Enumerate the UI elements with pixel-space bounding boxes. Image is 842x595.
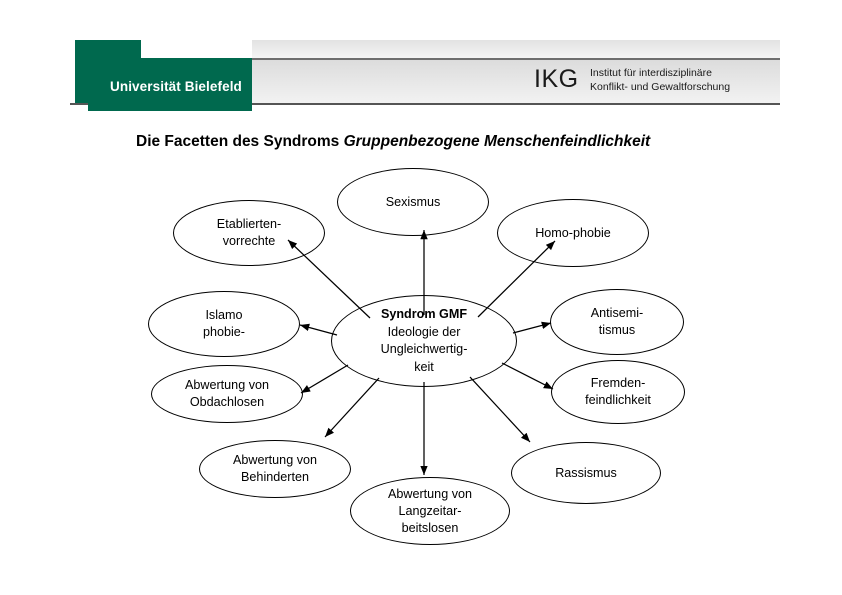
- node-abwertung-langzeitarbeitslose[interactable]: Abwertung von Langzeitar- beitslosen: [350, 477, 510, 545]
- node-rassismus-label: Rassismus: [555, 465, 617, 482]
- institute-name-line1: Institut für interdisziplinäre: [590, 66, 730, 80]
- institute-name-line2: Konflikt- und Gewaltforschung: [590, 80, 730, 94]
- node-antisemitismus[interactable]: Antisemi- tismus: [550, 289, 684, 355]
- node-rassismus[interactable]: Rassismus: [511, 442, 661, 504]
- node-islamophobie[interactable]: Islamo phobie-: [148, 291, 300, 357]
- node-abwertung-obdachlose-label: Abwertung von Obdachlosen: [185, 377, 269, 411]
- node-homophobie[interactable]: Homo-phobie: [497, 199, 649, 267]
- node-abwertung-langzeitarbeitslose-label: Abwertung von Langzeitar- beitslosen: [388, 486, 472, 537]
- node-homophobie-label: Homo-phobie: [535, 225, 611, 242]
- edge-to-fremdenfeindlichkeit: [502, 363, 553, 389]
- logo-block-foot: [88, 103, 252, 111]
- edge-to-antisemitismus: [513, 323, 551, 333]
- node-abwertung-behinderte[interactable]: Abwertung von Behinderten: [199, 440, 351, 498]
- node-abwertung-obdachlose[interactable]: Abwertung von Obdachlosen: [151, 365, 303, 423]
- node-center-heading: Syndrom GMF: [381, 306, 468, 324]
- page-title-plain: Die Facetten des Syndroms: [136, 133, 344, 150]
- node-etablierten-vorrechte[interactable]: Etablierten- vorrechte: [173, 200, 325, 266]
- logo-block-upper: [75, 40, 141, 59]
- node-center-body: Ideologie der Ungleichwertig- keit: [381, 325, 468, 374]
- node-sexismus[interactable]: Sexismus: [337, 168, 489, 236]
- node-abwertung-behinderte-label: Abwertung von Behinderten: [233, 452, 317, 486]
- ikg-abbreviation: IKG: [534, 65, 579, 94]
- university-wordmark: Universität Bielefeld: [110, 79, 242, 94]
- node-center-syndrom-gmf[interactable]: Syndrom GMF Ideologie der Ungleichwertig…: [331, 295, 517, 387]
- node-antisemitismus-label: Antisemi- tismus: [591, 305, 643, 339]
- header-gray-top-band: [252, 40, 780, 58]
- node-center-text: Syndrom GMF Ideologie der Ungleichwertig…: [381, 306, 468, 376]
- gmf-syndrome-diagram: Syndrom GMF Ideologie der Ungleichwertig…: [0, 150, 842, 580]
- page-title-italic: Gruppenbezogene Menschenfeindlichkeit: [344, 133, 651, 150]
- node-sexismus-label: Sexismus: [386, 194, 441, 211]
- page-header: Universität Bielefeld IKG Institut für i…: [0, 0, 842, 125]
- node-fremdenfeindlichkeit[interactable]: Fremden- feindlichkeit: [551, 360, 685, 424]
- page-title: Die Facetten des Syndroms Gruppenbezogen…: [136, 133, 650, 151]
- edge-to-obdachlose: [301, 365, 348, 393]
- node-etablierten-vorrechte-label: Etablierten- vorrechte: [217, 216, 281, 250]
- node-islamophobie-label: Islamo phobie-: [203, 307, 245, 341]
- edge-to-rassismus: [470, 377, 530, 442]
- institute-name: Institut für interdisziplinäreKonflikt- …: [590, 66, 730, 94]
- node-fremdenfeindlichkeit-label: Fremden- feindlichkeit: [585, 375, 651, 409]
- edge-to-behinderte: [325, 378, 379, 437]
